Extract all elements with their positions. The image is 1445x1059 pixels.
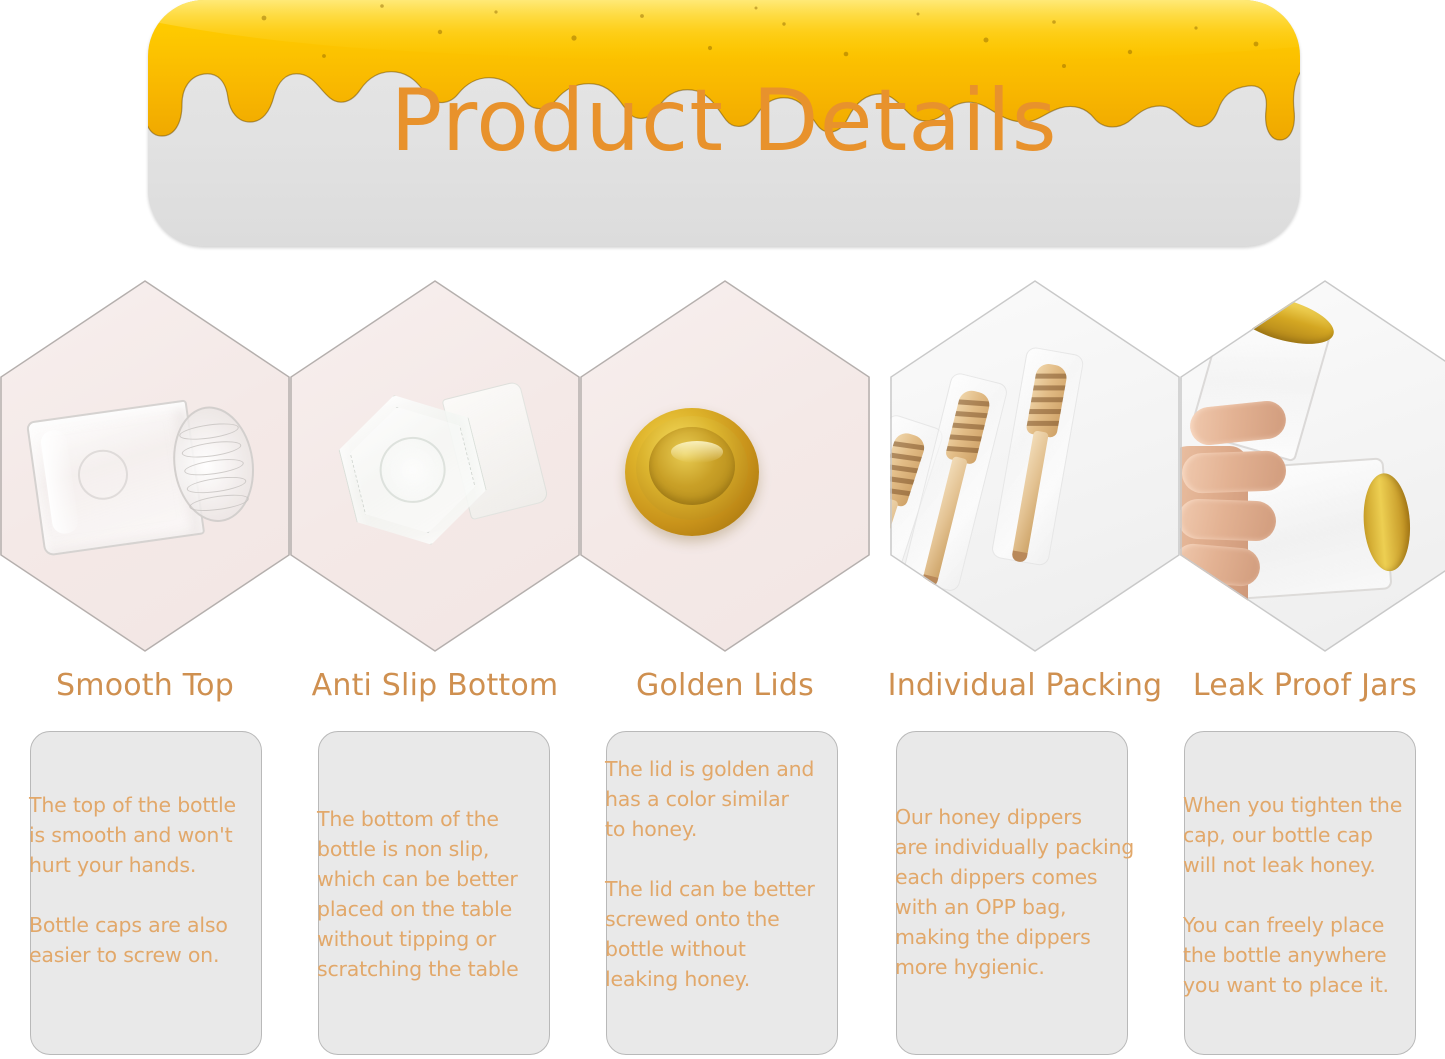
description-text: When you tighten the cap, our bottle cap… [1183, 790, 1431, 1000]
feature-image-individual-packing [890, 280, 1180, 652]
description-card-anti-slip-bottom: The bottom of the bottle is non slip, wh… [318, 731, 550, 1055]
feature-label-smooth-top: Smooth Top [0, 668, 290, 703]
feature-image-golden-lids [580, 280, 870, 652]
header-banner: Product Details [148, 0, 1300, 246]
hand-holding-jars-photo [1180, 280, 1445, 652]
feature-label-anti-slip-bottom: Anti Slip Bottom [290, 668, 580, 703]
lid-highlight [671, 441, 723, 463]
hand-illustration [1180, 376, 1306, 636]
description-card-smooth-top: The top of the bottle is smooth and won'… [30, 731, 262, 1055]
feature-image-leak-proof-jars [1180, 280, 1445, 652]
description-text: Our honey dippers are individually packi… [895, 802, 1143, 982]
golden-lid-photo [580, 280, 870, 652]
jar-thread [186, 474, 247, 496]
middle-finger [1181, 450, 1286, 494]
jar-thread [183, 456, 244, 478]
jar-thread [178, 420, 239, 442]
feature-image-row [0, 280, 1445, 652]
ring-finger [1180, 498, 1277, 541]
lid-outer-ring [625, 408, 759, 536]
lid-middle-ring [636, 416, 748, 520]
glass-jar-smooth-top-photo [0, 280, 290, 652]
description-card-individual-packing: Our honey dippers are individually packi… [896, 731, 1128, 1055]
description-card-golden-lids: The lid is golden and has a color simila… [606, 731, 838, 1055]
little-finger [1180, 542, 1261, 587]
jar-thread [188, 492, 249, 514]
feature-label-individual-packing: Individual Packing [880, 668, 1170, 703]
wrapped-honey-dippers-photo [890, 280, 1180, 652]
index-finger [1188, 399, 1287, 447]
feature-image-smooth-top [0, 280, 290, 652]
jar-thread [181, 438, 242, 460]
feature-label-row: Smooth Top Anti Slip Bottom Golden Lids … [0, 668, 1445, 712]
feature-label-leak-proof-jars: Leak Proof Jars [1160, 668, 1445, 703]
description-text: The bottom of the bottle is non slip, wh… [317, 804, 565, 984]
page-title: Product Details [148, 78, 1300, 164]
feature-description-row: The top of the bottle is smooth and won'… [0, 731, 1445, 1059]
feature-image-anti-slip-bottom [290, 280, 580, 652]
jar-illustration [327, 358, 555, 579]
description-text: The lid is golden and has a color simila… [605, 754, 853, 994]
hexagonal-jar-bottom-photo [290, 280, 580, 652]
description-text: The top of the bottle is smooth and won'… [29, 790, 277, 970]
jar-illustration [24, 377, 264, 566]
description-card-leak-proof-jars: When you tighten the cap, our bottle cap… [1184, 731, 1416, 1055]
lid-inner-face [649, 427, 735, 505]
feature-label-golden-lids: Golden Lids [580, 668, 870, 703]
